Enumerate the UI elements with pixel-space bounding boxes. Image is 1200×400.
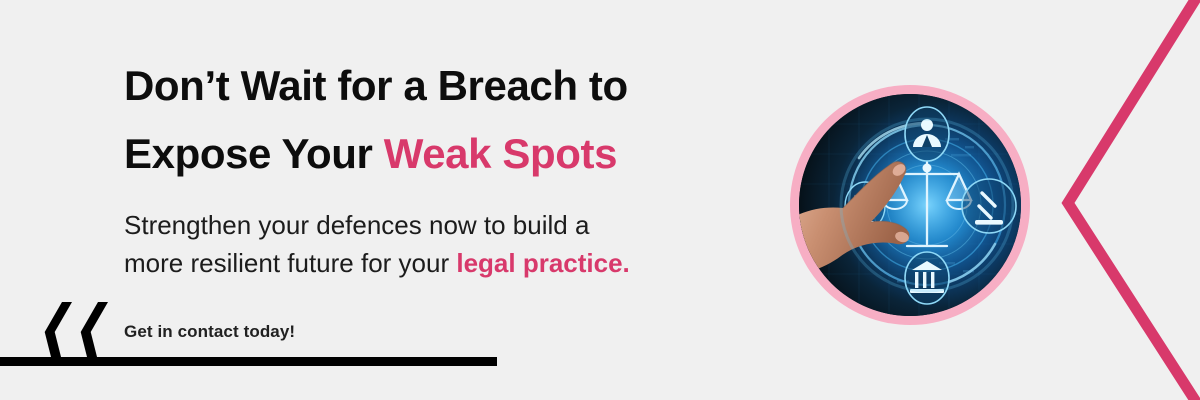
headline-line-1: Don’t Wait for a Breach to bbox=[124, 52, 824, 120]
courthouse-icon bbox=[905, 252, 949, 304]
chevron-left-icon bbox=[1050, 0, 1200, 400]
legal-technology-hologram-photo bbox=[790, 85, 1030, 325]
body-copy: Strengthen your defences now to build a … bbox=[124, 206, 824, 282]
headline-accent-text: Weak Spots bbox=[384, 130, 617, 177]
cta-label[interactable]: Get in contact today! bbox=[124, 322, 295, 342]
gavel-icon bbox=[962, 179, 1016, 233]
headline-line-2-text: Expose Your bbox=[124, 130, 384, 177]
cta-underline-rule bbox=[0, 357, 497, 366]
hologram-illustration bbox=[799, 94, 1021, 316]
headline-line-1-text: Don’t Wait for a Breach to bbox=[124, 62, 628, 109]
headline-line-2: Expose Your Weak Spots bbox=[124, 120, 824, 188]
body-line-2-text: more resilient future for your bbox=[124, 248, 456, 278]
body-line-1: Strengthen your defences now to build a bbox=[124, 206, 824, 244]
lawyer-person-icon bbox=[905, 107, 949, 161]
body-accent-text: legal practice. bbox=[456, 248, 629, 278]
photo-inner bbox=[799, 94, 1021, 316]
headline: Don’t Wait for a Breach to Expose Your W… bbox=[124, 52, 824, 188]
promo-banner: Don’t Wait for a Breach to Expose Your W… bbox=[0, 0, 1200, 400]
double-chevron-right-icon bbox=[44, 302, 116, 362]
body-line-2: more resilient future for your legal pra… bbox=[124, 244, 824, 282]
body-line-1-text: Strengthen your defences now to build a bbox=[124, 210, 589, 240]
